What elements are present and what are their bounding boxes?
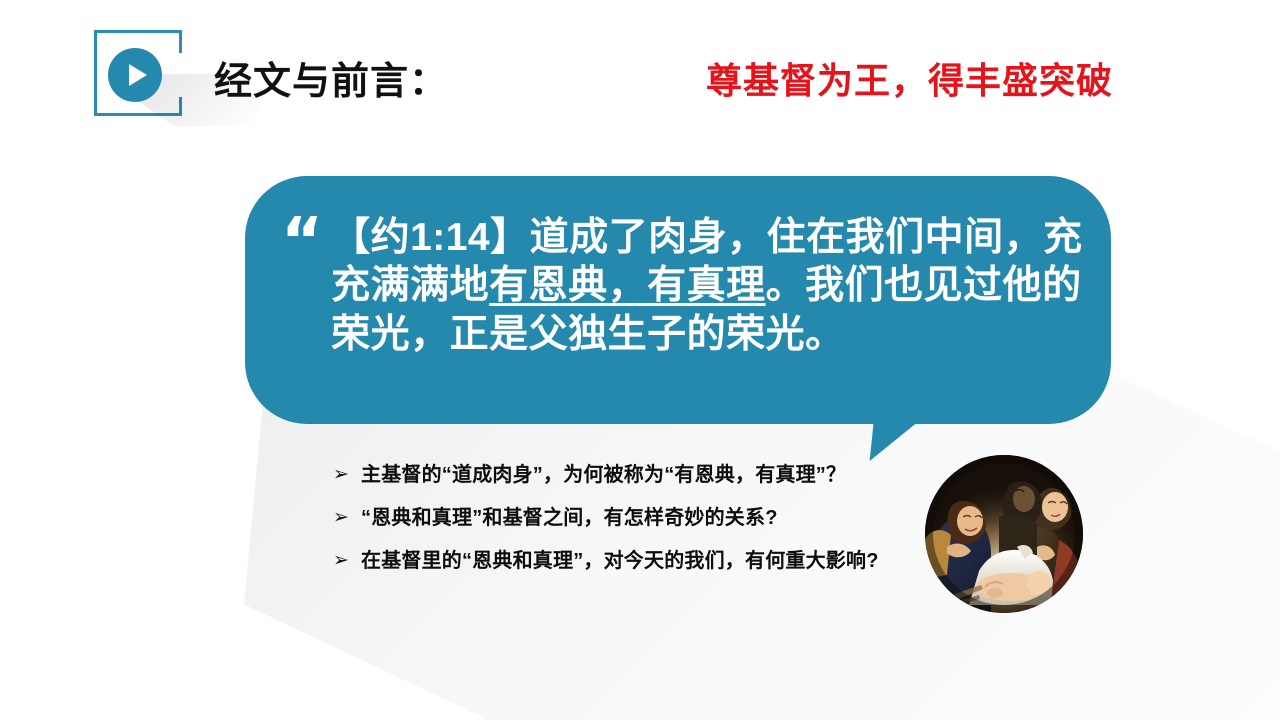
nativity-painting — [925, 455, 1083, 613]
list-item-label: “恩典和真理”和基督之间，有怎样奇妙的关系? — [361, 505, 913, 532]
question-list: ➢ 主基督的“道成肉身”，为何被称为“有恩典，有真理”？ ➢ “恩典和真理”和基… — [333, 462, 913, 575]
list-item-label: 在基督里的“恩典和真理”，对今天的我们，有何重大影响? — [361, 548, 913, 575]
logo-mark — [94, 30, 190, 124]
nativity-illustration — [925, 455, 1083, 613]
page-subtitle: 尊基督为王，得丰盛突破 — [706, 52, 1113, 104]
list-item-label: 主基督的“道成肉身”，为何被称为“有恩典，有真理”？ — [361, 462, 913, 489]
list-item: ➢ 在基督里的“恩典和真理”，对今天的我们，有何重大影响? — [333, 548, 913, 575]
quote-text: 【约1:14】道成了肉身，住在我们中间，充充满满地有恩典，有真理。我们也见过他的… — [331, 214, 1083, 359]
page-title: 经文与前言： — [214, 50, 448, 105]
bubble-tail — [870, 415, 927, 461]
quote-content: “ 【约1:14】道成了肉身，住在我们中间，充充满满地有恩典，有真理。我们也见过… — [281, 214, 1083, 359]
slide-root: 经文与前言： 尊基督为王，得丰盛突破 “ 【约1:14】道成了肉身，住在我们中间… — [0, 0, 1280, 720]
arrow-bullet-icon: ➢ — [333, 505, 361, 531]
quote-mark-icon: “ — [281, 218, 323, 268]
arrow-bullet-icon: ➢ — [333, 548, 361, 574]
arrow-bullet-icon: ➢ — [333, 462, 361, 488]
scripture-quote-bubble: “ 【约1:14】道成了肉身，住在我们中间，充充满满地有恩典，有真理。我们也见过… — [245, 176, 1111, 424]
logo-square-notch — [174, 53, 182, 97]
play-button-icon — [108, 48, 162, 102]
quote-text-underlined: 有恩典，有真理 — [489, 264, 766, 307]
list-item: ➢ 主基督的“道成肉身”，为何被称为“有恩典，有真理”？ — [333, 462, 913, 489]
play-triangle-icon — [129, 64, 147, 86]
list-item: ➢ “恩典和真理”和基督之间，有怎样奇妙的关系? — [333, 505, 913, 532]
